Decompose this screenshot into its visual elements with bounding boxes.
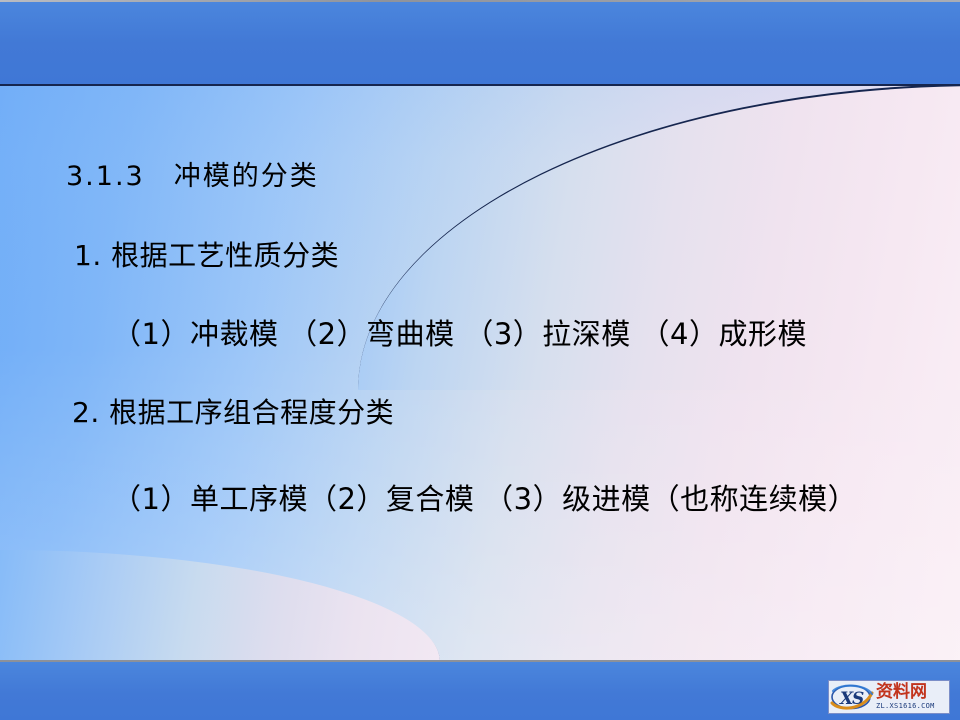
- watermark-site-name: 资料网: [876, 684, 949, 701]
- slide-content: 3.1.3 冲模的分类 1. 根据工艺性质分类 （1）冲裁模 （2）弯曲模 （3…: [0, 86, 960, 606]
- xs-swoosh-icon: X S: [829, 681, 875, 713]
- presentation-slide: 3.1.3 冲模的分类 1. 根据工艺性质分类 （1）冲裁模 （2）弯曲模 （3…: [0, 0, 960, 720]
- watermark-text-block: 资料网 ZL.XS1616.COM: [875, 684, 949, 710]
- bullet-item-1: 1. 根据工艺性质分类: [74, 234, 339, 274]
- bullet-sub-items-1: （1）冲裁模 （2）弯曲模 （3）拉深模 （4）成形模: [112, 311, 807, 353]
- watermark-url: ZL.XS1616.COM: [876, 703, 949, 710]
- slide-top-banner: [0, 2, 960, 86]
- slide-heading: 3.1.3 冲模的分类: [66, 154, 319, 193]
- window-top-edge-strip: [0, 0, 960, 2]
- slide-bottom-bar: [0, 660, 960, 720]
- bullet-item-2: 2. 根据工序组合程度分类: [72, 391, 394, 431]
- svg-text:S: S: [852, 689, 864, 709]
- watermark-logo: X S 资料网 ZL.XS1616.COM: [828, 680, 950, 714]
- bullet-sub-items-2: （1）单工序模（2）复合模 （3）级进模（也称连续模）: [112, 476, 857, 518]
